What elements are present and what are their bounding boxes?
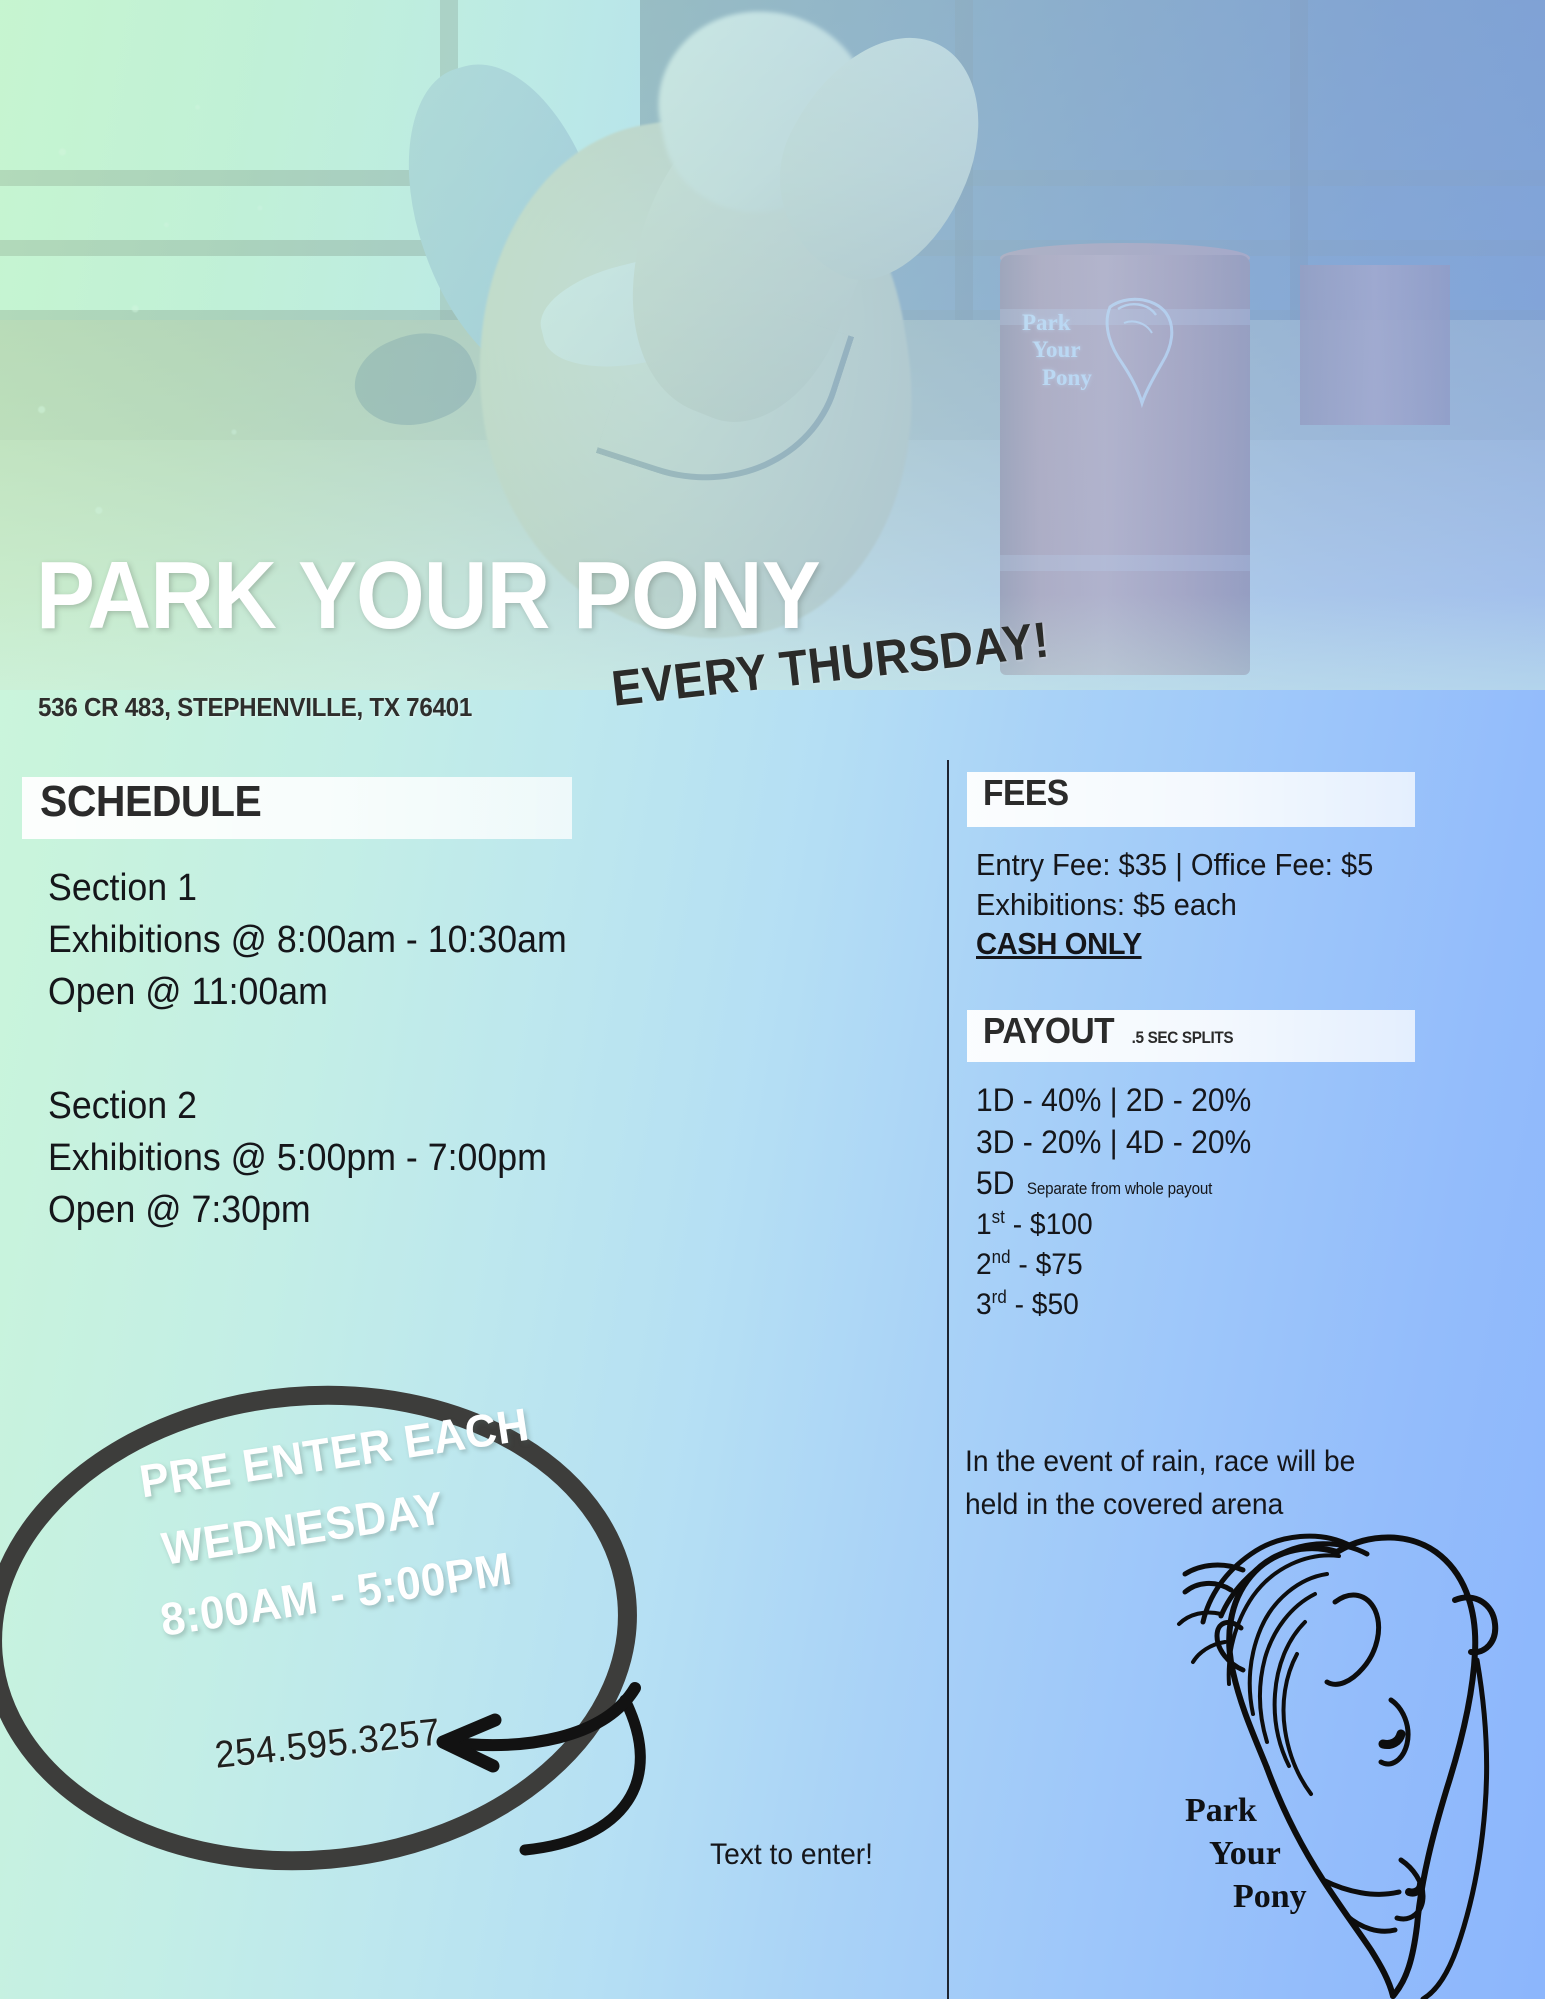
fees-cash-only: CASH ONLY [976, 924, 1408, 964]
schedule-section2-exhibitions: Exhibitions @ 5:00pm - 7:00pm [48, 1132, 706, 1184]
payout-heading: PAYOUT [983, 1010, 1114, 1052]
schedule-list: Section 1 Exhibitions @ 8:00am - 10:30am… [48, 862, 748, 1236]
payout-place-1-ordinal: 1 [976, 1208, 992, 1241]
payout-place-3-ordinal: 3 [976, 1288, 992, 1321]
payout-place-2-amount: - $75 [1018, 1248, 1082, 1281]
footer-logo-line-2: Your [1185, 1833, 1307, 1876]
column-divider [947, 760, 949, 1999]
payout-heading-bar: PAYOUT .5 SEC SPLITS [967, 1010, 1415, 1062]
payout-5d-label: 5D [976, 1163, 1014, 1205]
schedule-section1-exhibitions: Exhibitions @ 8:00am - 10:30am [48, 914, 706, 966]
payout-place-2-suffix: nd [992, 1247, 1011, 1267]
payout-row-2: 3D - 20% | 4D - 20% [976, 1122, 1408, 1164]
arrow-caption: Text to enter! [710, 1838, 873, 1872]
schedule-heading: SCHEDULE [40, 777, 261, 827]
payout-place-2-ordinal: 2 [976, 1248, 992, 1281]
phone-number[interactable]: 254.595.3257 [213, 1711, 443, 1777]
schedule-section1-open: Open @ 11:00am [48, 966, 706, 1018]
payout-place-2: 2nd - $75 [976, 1245, 1408, 1285]
fees-heading: FEES [983, 772, 1069, 814]
schedule-section2-open: Open @ 7:30pm [48, 1184, 706, 1236]
payout-place-1: 1st - $100 [976, 1205, 1408, 1245]
payout-row-1: 1D - 40% | 2D - 20% [976, 1080, 1408, 1122]
payout-5d-note: Separate from whole payout [1027, 1178, 1212, 1200]
payout-place-3-amount: - $50 [1015, 1288, 1079, 1321]
fees-heading-bar: FEES [967, 772, 1415, 827]
page-title: PARK YOUR PONY [36, 548, 820, 644]
payout-list: 1D - 40% | 2D - 20% 3D - 20% | 4D - 20% … [976, 1080, 1436, 1325]
payout-place-3: 3rd - $50 [976, 1285, 1408, 1325]
venue-address: 536 CR 483, STEPHENVILLE, TX 76401 [38, 692, 472, 723]
payout-row-5d: 5D Separate from whole payout [976, 1163, 1408, 1205]
payout-place-1-amount: - $100 [1013, 1208, 1093, 1241]
fees-list: Entry Fee: $35 | Office Fee: $5 Exhibiti… [976, 845, 1436, 964]
schedule-section1-name: Section 1 [48, 862, 706, 914]
payout-subtitle: .5 SEC SPLITS [1132, 1028, 1234, 1048]
schedule-heading-bar: SCHEDULE [22, 777, 572, 839]
payout-place-3-suffix: rd [992, 1287, 1007, 1307]
footer-logo-line-3: Pony [1185, 1876, 1307, 1919]
footer-logo-text: Park Your Pony [1185, 1790, 1307, 1918]
rain-notice: In the event of rain, race will be held … [965, 1440, 1435, 1526]
flyer-root: Park Your Pony PARK YOUR PONY 536 CR 483… [0, 0, 1545, 1999]
pre-enter-callout: PRE ENTER EACH WEDNESDAY 8:00AM - 5:00PM [135, 1359, 759, 1655]
rain-notice-line-1: In the event of rain, race will be [965, 1440, 1407, 1483]
rain-notice-line-2: held in the covered arena [965, 1483, 1407, 1526]
horse-head-logo-icon [1155, 1530, 1545, 1999]
fees-entry-office: Entry Fee: $35 | Office Fee: $5 [976, 845, 1408, 885]
footer-logo-line-1: Park [1185, 1790, 1307, 1833]
schedule-section2-name: Section 2 [48, 1080, 706, 1132]
fees-exhibitions: Exhibitions: $5 each [976, 885, 1408, 925]
payout-place-1-suffix: st [992, 1207, 1005, 1227]
schedule-spacer [48, 1018, 748, 1080]
